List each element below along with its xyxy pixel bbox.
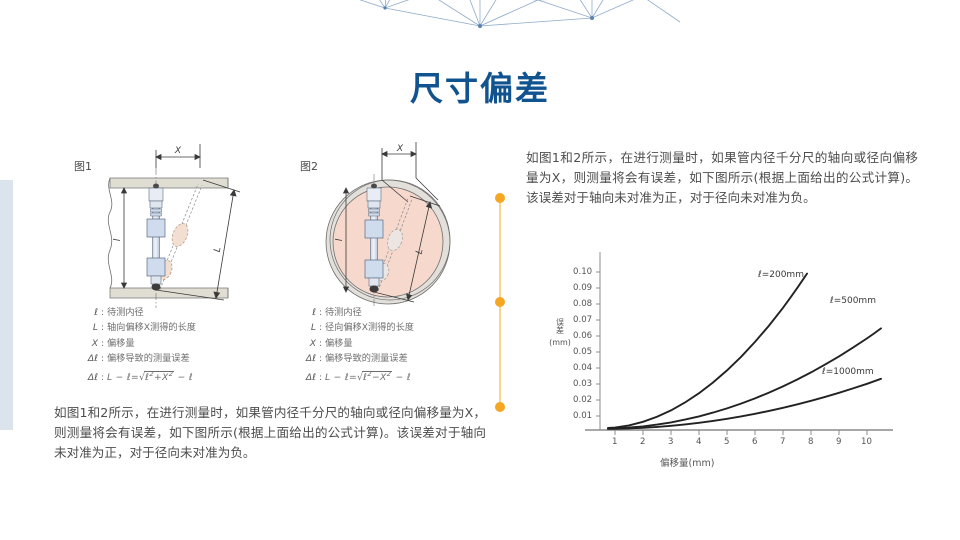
chart-xtick-10: 10 bbox=[861, 437, 872, 447]
legend-symbol: X bbox=[290, 336, 316, 351]
legend-text: 待测内径 bbox=[107, 305, 144, 320]
legend-text: 待测内径 bbox=[325, 305, 362, 320]
chart-series-label-200: ℓ=200mm bbox=[758, 270, 804, 280]
chart-ytick-0.09: 0.09 bbox=[573, 283, 592, 293]
legend-colon: : bbox=[98, 305, 107, 320]
chart-series-label-500: ℓ=500mm bbox=[830, 296, 876, 306]
legend-symbol: Δℓ bbox=[290, 370, 316, 385]
legend-row: L : 径向偏移X测得的长度 bbox=[290, 320, 414, 335]
legend-text: 偏移量 bbox=[107, 336, 135, 351]
chart-series-curve-1000 bbox=[608, 379, 881, 429]
legend-row: ℓ : 待测内径 bbox=[72, 305, 196, 320]
legend-text: 偏移量 bbox=[325, 336, 353, 351]
legend-symbol: X bbox=[72, 336, 98, 351]
legend-text: 轴向偏移X测得的长度 bbox=[107, 320, 196, 335]
svg-text:X: X bbox=[174, 146, 182, 156]
figure-1-label: 图1 bbox=[74, 158, 92, 174]
legend-formula: L − ℓ=√ℓ2−X2 − ℓ bbox=[325, 367, 411, 385]
legend-colon: : bbox=[98, 351, 107, 366]
legend-row: Δℓ : 偏移导致的测量误差 bbox=[72, 351, 196, 366]
legend-row: ℓ : 待测内径 bbox=[290, 305, 414, 320]
chart-ytick-0.01: 0.01 bbox=[573, 411, 592, 421]
figure-2-diagram: X l L bbox=[290, 140, 490, 310]
chart-xtick-4: 4 bbox=[696, 437, 701, 447]
svg-text:L: L bbox=[213, 246, 224, 253]
legend-formula: L − ℓ=√ℓ2+X2 − ℓ bbox=[107, 367, 193, 385]
legend-symbol: L bbox=[290, 320, 316, 335]
chart-ytick-0.08: 0.08 bbox=[573, 299, 592, 309]
legend-colon: : bbox=[98, 320, 107, 335]
legend-colon: : bbox=[316, 336, 325, 351]
chart-xtick-1: 1 bbox=[612, 437, 617, 447]
figure-1-diagram: X l L bbox=[64, 140, 279, 310]
chart-series-label-1000: ℓ=1000mm bbox=[822, 367, 874, 377]
legend-colon: : bbox=[316, 351, 325, 366]
page-title: 尺寸偏差 bbox=[0, 62, 960, 110]
legend-row: X : 偏移量 bbox=[72, 336, 196, 351]
chart-series-curve-200 bbox=[608, 274, 807, 428]
figure-2-legend: ℓ : 待测内径 L : 径向偏移X测得的长度 X : 偏移量 Δℓ : 偏移导… bbox=[290, 305, 414, 385]
legend-symbol: L bbox=[72, 320, 98, 335]
chart-xtick-5: 5 bbox=[724, 437, 729, 447]
chart-xtick-2: 2 bbox=[640, 437, 645, 447]
slide-canvas: 尺寸偏差 bbox=[0, 0, 960, 540]
legend-colon: : bbox=[316, 320, 325, 335]
svg-text:X: X bbox=[396, 144, 404, 154]
legend-symbol: Δℓ bbox=[72, 370, 98, 385]
paragraph-right: 如图1和2所示，在进行测量时，如果管内径千分尺的轴向或径向偏移量为X，则测量将会… bbox=[526, 148, 918, 208]
chart-xtick-8: 8 bbox=[808, 437, 813, 447]
chart-xtick-6: 6 bbox=[752, 437, 757, 447]
chart-ytick-0.07: 0.07 bbox=[573, 315, 592, 325]
vertical-dot-divider bbox=[493, 190, 507, 415]
legend-symbol: Δℓ bbox=[72, 351, 98, 366]
figure-2-label: 图2 bbox=[300, 158, 318, 174]
legend-symbol: ℓ bbox=[290, 305, 316, 320]
chart-xtick-7: 7 bbox=[780, 437, 785, 447]
chart-series-curve-500 bbox=[608, 328, 881, 428]
chart-ytick-0.06: 0.06 bbox=[573, 331, 592, 341]
legend-colon: : bbox=[98, 336, 107, 351]
error-vs-offset-chart bbox=[545, 252, 945, 477]
legend-row-formula: Δℓ : L − ℓ=√ℓ2−X2 − ℓ bbox=[290, 367, 414, 385]
legend-colon: : bbox=[316, 370, 325, 385]
left-edge-accent-bar bbox=[0, 180, 13, 430]
chart-ytick-0.10: 0.10 bbox=[573, 267, 592, 277]
chart-xtick-9: 9 bbox=[836, 437, 841, 447]
chart-ytick-0.03: 0.03 bbox=[573, 379, 592, 389]
legend-symbol: Δℓ bbox=[290, 351, 316, 366]
chart-ytick-0.02: 0.02 bbox=[573, 395, 592, 405]
legend-colon: : bbox=[98, 370, 107, 385]
svg-text:l: l bbox=[113, 238, 123, 241]
chart-xtick-3: 3 bbox=[668, 437, 673, 447]
chart-ytick-0.05: 0.05 bbox=[573, 347, 592, 357]
legend-symbol: ℓ bbox=[72, 305, 98, 320]
legend-colon: : bbox=[316, 305, 325, 320]
figure-1-legend: ℓ : 待测内径 L : 轴向偏移X测得的长度 X : 偏移量 Δℓ : 偏移导… bbox=[72, 305, 196, 385]
chart-ytick-0.04: 0.04 bbox=[573, 363, 592, 373]
legend-text: 径向偏移X测得的长度 bbox=[325, 320, 414, 335]
legend-text: 偏移导致的测量误差 bbox=[107, 351, 190, 366]
chart-x-axis-title: 偏移量(mm) bbox=[660, 455, 714, 469]
legend-text: 偏移导致的测量误差 bbox=[325, 351, 408, 366]
legend-row: L : 轴向偏移X测得的长度 bbox=[72, 320, 196, 335]
legend-row: Δℓ : 偏移导致的测量误差 bbox=[290, 351, 414, 366]
legend-row-formula: Δℓ : L − ℓ=√ℓ2+X2 − ℓ bbox=[72, 367, 196, 385]
paragraph-bottom-left: 如图1和2所示，在进行测量时，如果管内径千分尺的轴向或径向偏移量为X，则测量将会… bbox=[54, 403, 486, 463]
wireframe-decoration bbox=[330, 0, 680, 60]
legend-row: X : 偏移量 bbox=[290, 336, 414, 351]
